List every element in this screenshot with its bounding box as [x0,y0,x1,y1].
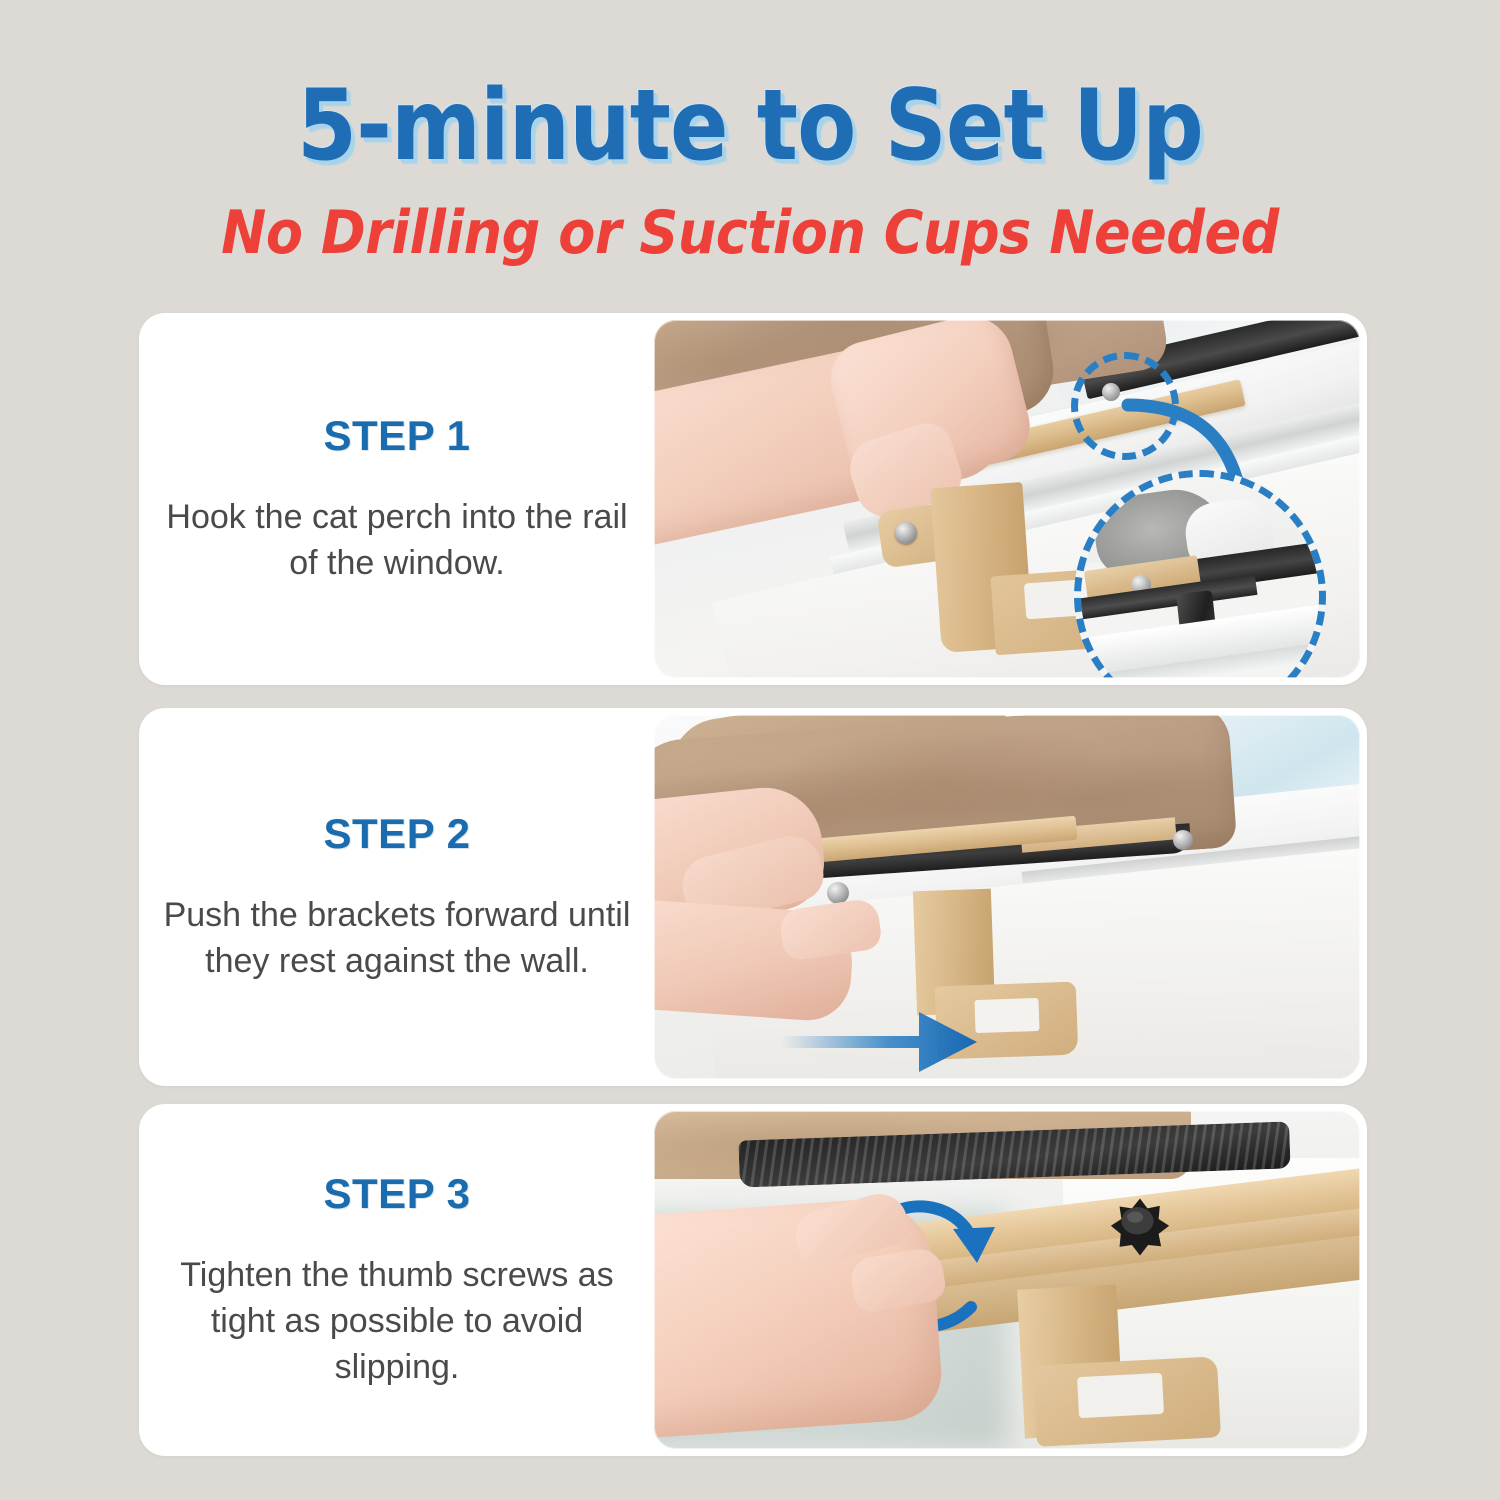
step-card-3: STEP 3 Tighten the thumb screws as tight… [139,1104,1367,1456]
step-3-text-block: STEP 3 Tighten the thumb screws as tight… [139,1104,655,1456]
push-arrow-right-icon [781,984,1011,1074]
step-3-photo [654,1111,1360,1449]
step-2-text-block: STEP 2 Push the brackets forward until t… [139,708,655,1086]
hook-notch [1077,1372,1164,1417]
step-2-description: Push the brackets forward until they res… [153,892,641,984]
step-3-description: Tighten the thumb screws as tight as pos… [153,1252,641,1390]
page-subtitle: No Drilling or Suction Cups Needed [75,200,1425,266]
screw-icon [1173,830,1193,850]
step-card-1: STEP 1 Hook the cat perch into the rail … [139,313,1367,685]
step-card-2: STEP 2 Push the brackets forward until t… [139,708,1367,1086]
step-1-description: Hook the cat perch into the rail of the … [153,494,641,586]
step-3-label: STEP 3 [324,1170,471,1218]
page-title: 5-minute to Set Up [90,74,1410,178]
step-1-text-block: STEP 1 Hook the cat perch into the rail … [139,313,655,685]
step-1-photo [654,320,1360,678]
step-1-label: STEP 1 [324,412,471,460]
header: 5-minute to Set Up No Drilling or Suctio… [0,0,1500,300]
thumb-screw-knob-icon [1109,1196,1171,1258]
step-2-label: STEP 2 [324,810,471,858]
magnifier-inset [1074,470,1326,678]
step-2-photo [654,715,1360,1079]
